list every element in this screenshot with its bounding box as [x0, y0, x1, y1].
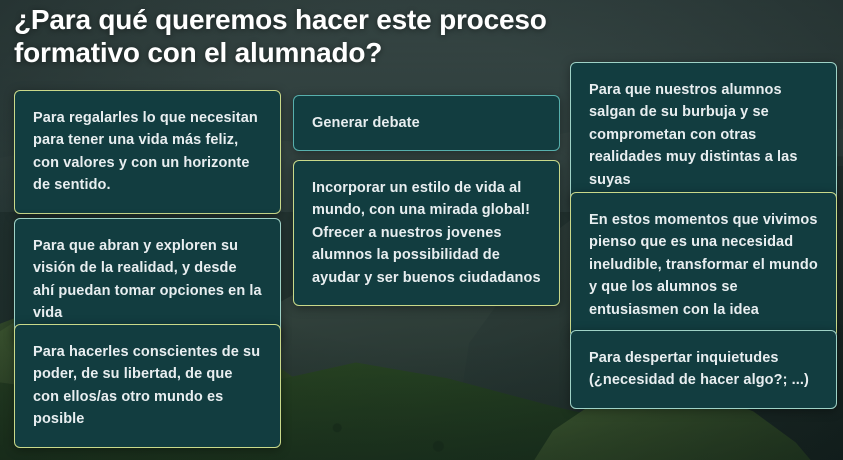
post-regalarles[interactable]: Para regalarles lo que necesitan para te… — [14, 90, 281, 214]
post-conscientes-poder[interactable]: Para hacerles conscientes de su poder, d… — [14, 324, 281, 448]
post-text: Incorporar un estilo de vida al mundo, c… — [312, 177, 541, 289]
post-text: En estos momentos que vivimos pienso que… — [589, 209, 818, 321]
post-columns: Para regalarles lo que necesitan para te… — [0, 0, 843, 460]
padlet-board: ¿Para qué queremos hacer este proceso fo… — [0, 0, 843, 460]
post-text: Para despertar inquietudes (¿necesidad d… — [589, 347, 818, 392]
post-text: Para hacerles conscientes de su poder, d… — [33, 341, 262, 431]
post-transformar-el-mundo[interactable]: En estos momentos que vivimos pienso que… — [570, 192, 837, 338]
post-text: Para regalarles lo que necesitan para te… — [33, 107, 262, 197]
post-text: Para que abran y exploren su visión de l… — [33, 235, 262, 325]
post-text: Generar debate — [312, 112, 541, 134]
post-text: Para que nuestros alumnos salgan de su b… — [589, 79, 818, 191]
post-generar-debate[interactable]: Generar debate — [293, 95, 560, 151]
post-despertar-inquietudes[interactable]: Para despertar inquietudes (¿necesidad d… — [570, 330, 837, 409]
post-estilo-de-vida[interactable]: Incorporar un estilo de vida al mundo, c… — [293, 160, 560, 306]
post-burbuja[interactable]: Para que nuestros alumnos salgan de su b… — [570, 62, 837, 208]
